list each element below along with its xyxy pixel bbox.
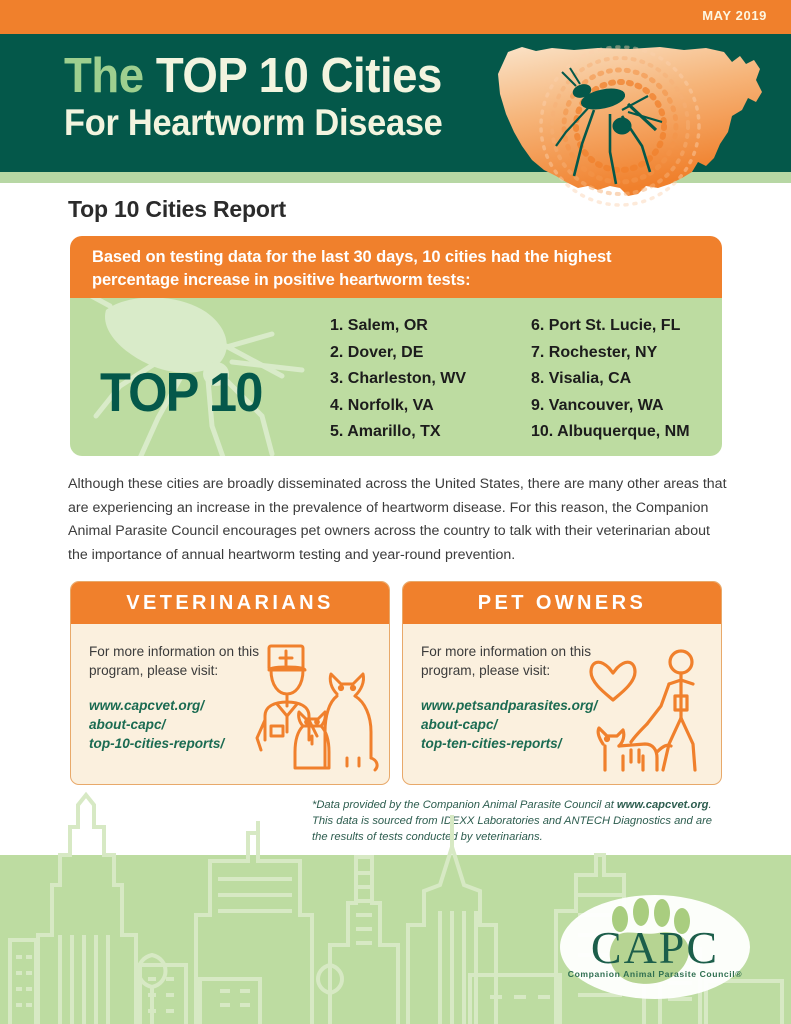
section-heading: Top 10 Cities Report <box>68 196 286 223</box>
city-item: 10. Albuquerque, NM <box>525 419 720 446</box>
city-item: 2. Dover, DE <box>330 340 525 367</box>
top-10-list-panel: TOP 10 1. Salem, OR 2. Dover, DE 3. Char… <box>70 298 722 456</box>
capc-logo: CAPC Companion Animal Parasite Council® <box>558 893 753 1005</box>
top-10-badge: TOP 10 <box>100 360 262 424</box>
veterinarians-lead-text: For more information on this program, pl… <box>89 642 269 680</box>
pet-owners-card-header: PET OWNERS <box>403 582 721 624</box>
pet-owners-lead-text: For more information on this program, pl… <box>421 642 601 680</box>
title-line-2: For Heartworm Disease <box>64 102 443 144</box>
callout-text: Based on testing data for the last 30 da… <box>92 246 700 292</box>
veterinarians-card-title: VETERINARIANS <box>126 592 334 615</box>
veterinarians-card-header: VETERINARIANS <box>71 582 389 624</box>
infographic-page: MAY 2019 The TOP 10 Cities For Heartworm… <box>0 0 791 1024</box>
capc-tagline: Companion Animal Parasite Council® <box>568 969 743 979</box>
city-column-left: 1. Salem, OR 2. Dover, DE 3. Charleston,… <box>330 313 525 446</box>
city-item: 8. Visalia, CA <box>525 366 720 393</box>
pet-owners-card-title: PET OWNERS <box>478 592 646 615</box>
date-label: MAY 2019 <box>702 8 767 23</box>
city-columns: 1. Salem, OR 2. Dover, DE 3. Charleston,… <box>330 313 720 446</box>
title-strong: TOP 10 Cities <box>156 49 442 103</box>
top-orange-bar <box>0 0 791 34</box>
title-line-1: The TOP 10 Cities <box>64 50 443 102</box>
city-column-right: 6. Port St. Lucie, FL 7. Rochester, NY 8… <box>525 313 720 446</box>
header-band: The TOP 10 Cities For Heartworm Disease <box>0 34 791 172</box>
header-light-stripe <box>0 172 791 183</box>
city-item: 3. Charleston, WV <box>330 366 525 393</box>
city-item: 4. Norfolk, VA <box>330 393 525 420</box>
city-item: 9. Vancouver, WA <box>525 393 720 420</box>
city-item: 1. Salem, OR <box>330 313 525 340</box>
heart-icon <box>591 662 635 700</box>
capc-wordmark: CAPC <box>591 922 719 973</box>
city-item: 5. Amarillo, TX <box>330 419 525 446</box>
body-paragraph: Although these cities are broadly dissem… <box>68 473 728 567</box>
city-item: 7. Rochester, NY <box>525 340 720 367</box>
callout-banner: Based on testing data for the last 30 da… <box>70 236 722 298</box>
title-block: The TOP 10 Cities For Heartworm Disease <box>64 50 471 144</box>
title-prefix: The <box>64 49 156 103</box>
city-item: 6. Port St. Lucie, FL <box>525 313 720 340</box>
